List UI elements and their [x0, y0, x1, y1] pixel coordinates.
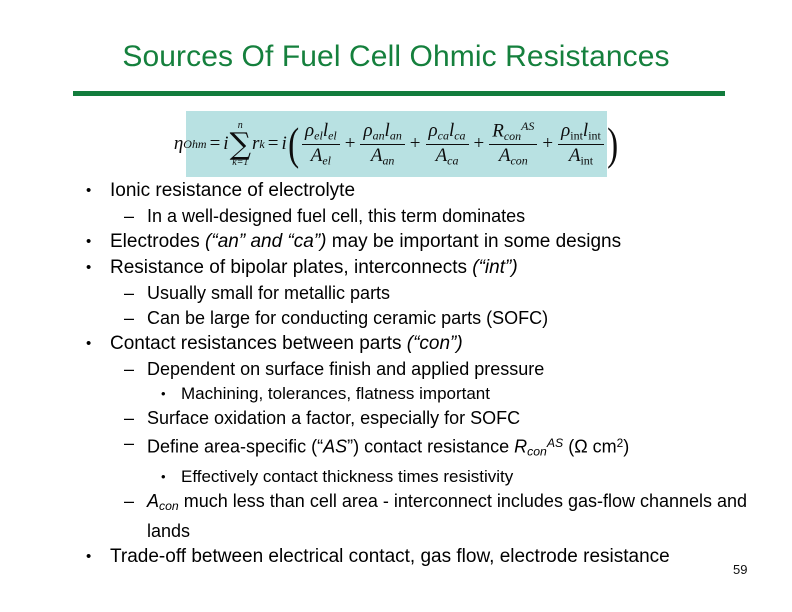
dot-bullet-icon: • — [86, 229, 91, 255]
bullet-item-level-1: •Ionic resistance of electrolyte — [0, 178, 792, 204]
plus-sign-2: + — [410, 133, 421, 155]
dash-bullet-icon: – — [124, 406, 134, 431]
title-underline-rule — [73, 91, 725, 96]
bullet-text: Usually small for metallic parts — [147, 281, 792, 306]
bullet-item-level-2: –Can be large for conducting ceramic par… — [0, 306, 792, 331]
text-segment: Trade-off between electrical contact, ga… — [110, 546, 670, 567]
sigma-glyph: ∑ — [230, 131, 251, 158]
term-anode-denominator: Aan — [368, 145, 398, 167]
dash-bullet-icon: – — [124, 357, 134, 382]
text-segment: (Ω cm — [563, 437, 616, 457]
bullet-list: •Ionic resistance of electrolyte–In a we… — [0, 178, 792, 570]
text-segment: (“int”) — [472, 257, 517, 278]
r-term-symbol: r — [252, 133, 259, 155]
term-contact-denominator: Acon — [496, 145, 531, 167]
plus-sign-1: + — [345, 133, 356, 155]
term-interconnect: ρintlint Aint — [558, 121, 604, 167]
dash-bullet-icon: – — [124, 306, 134, 331]
dot-bullet-icon: • — [86, 255, 91, 281]
eta-symbol: η — [174, 133, 183, 155]
bullet-text: Electrodes (“an” and “ca”) may be import… — [110, 229, 792, 255]
bullet-item-level-2: –Define area-specific (“AS”) contact res… — [0, 431, 792, 465]
term-cathode-numerator: ρcalca — [426, 121, 469, 144]
text-segment: Effectively contact thickness times resi… — [181, 467, 513, 486]
text-segment: Usually small for metallic parts — [147, 283, 390, 303]
bullet-item-level-1: •Electrodes (“an” and “ca”) may be impor… — [0, 229, 792, 255]
bullet-text: Contact resistances between parts (“con”… — [110, 331, 792, 357]
text-segment: AS — [323, 437, 347, 457]
text-segment: Ionic resistance of electrolyte — [110, 180, 355, 201]
text-segment: ) — [623, 437, 629, 457]
bullet-item-level-3: •Effectively contact thickness times res… — [0, 465, 792, 489]
bullet-text: Trade-off between electrical contact, ga… — [110, 544, 792, 570]
bullet-text: Surface oxidation a factor, especially f… — [147, 406, 792, 431]
left-paren: ( — [288, 131, 299, 156]
bullet-item-level-1: •Contact resistances between parts (“con… — [0, 331, 792, 357]
text-segment: much less than cell area - interconnect … — [147, 491, 747, 541]
eta-subscript: Ohm — [183, 137, 206, 152]
text-segment: Can be large for conducting ceramic part… — [147, 308, 548, 328]
bullet-item-level-2: –Acon much less than cell area - interco… — [0, 489, 792, 544]
term-anode: ρanlan Aan — [360, 121, 404, 167]
dot-bullet-icon: • — [86, 178, 91, 204]
page-number: 59 — [733, 562, 747, 577]
text-segment: (“con”) — [407, 333, 463, 354]
bullet-text: Machining, tolerances, flatness importan… — [181, 382, 792, 406]
dot-bullet-icon: • — [161, 465, 166, 489]
plus-sign-4: + — [542, 133, 553, 155]
dot-bullet-icon: • — [161, 382, 166, 406]
dash-bullet-icon: – — [124, 489, 134, 514]
plus-sign-3: + — [474, 133, 485, 155]
bullet-text: Resistance of bipolar plates, interconne… — [110, 255, 792, 281]
term-electrolyte-numerator: ρellel — [302, 121, 340, 144]
bullet-text: In a well-designed fuel cell, this term … — [147, 204, 792, 229]
text-segment: Dependent on surface finish and applied … — [147, 359, 544, 379]
term-cathode-denominator: Aca — [433, 145, 462, 167]
bullet-item-level-2: –In a well-designed fuel cell, this term… — [0, 204, 792, 229]
bullet-item-level-2: –Usually small for metallic parts — [0, 281, 792, 306]
term-interconnect-denominator: Aint — [566, 145, 596, 167]
text-segment: Surface oxidation a factor, especially f… — [147, 408, 520, 428]
right-paren: ) — [607, 131, 618, 156]
text-segment: R — [514, 437, 527, 457]
text-segment: Electrodes — [110, 231, 205, 252]
bullet-item-level-1: •Resistance of bipolar plates, interconn… — [0, 255, 792, 281]
term-electrolyte-denominator: Ael — [308, 145, 334, 167]
text-segment: AS — [547, 436, 563, 450]
term-anode-numerator: ρanlan — [360, 121, 404, 144]
text-segment: Contact resistances between parts — [110, 333, 407, 354]
text-segment: (“an” and “ca”) — [205, 231, 326, 252]
term-cathode: ρcalca Aca — [426, 121, 469, 167]
equation-highlight-box: ηOhm = i n ∑ k=1 rk = i ( ρellel Ael + ρ… — [186, 111, 607, 177]
bullet-item-level-2: –Dependent on surface finish and applied… — [0, 357, 792, 382]
text-segment: A — [147, 491, 159, 511]
dash-bullet-icon: – — [124, 204, 134, 229]
bullet-text: Define area-specific (“AS”) contact resi… — [147, 431, 792, 465]
summation-operator: n ∑ k=1 — [230, 121, 251, 167]
bullet-text: Acon much less than cell area - intercon… — [147, 489, 792, 544]
sum-lower-limit: k=1 — [232, 158, 248, 168]
bullet-item-level-1: •Trade-off between electrical contact, g… — [0, 544, 792, 570]
term-electrolyte: ρellel Ael — [302, 121, 340, 167]
text-segment: In a well-designed fuel cell, this term … — [147, 206, 525, 226]
bullet-item-level-3: •Machining, tolerances, flatness importa… — [0, 382, 792, 406]
dash-bullet-icon: – — [124, 281, 134, 306]
bullet-text: Can be large for conducting ceramic part… — [147, 306, 792, 331]
term-contact: RconAS Acon — [489, 120, 537, 167]
equals-sign-1: = — [210, 133, 221, 155]
page-title: Sources Of Fuel Cell Ohmic Resistances — [0, 40, 792, 74]
text-segment: Resistance of bipolar plates, interconne… — [110, 257, 472, 278]
current-symbol-1: i — [223, 133, 228, 155]
dash-bullet-icon: – — [124, 431, 134, 456]
dot-bullet-icon: • — [86, 331, 91, 357]
text-segment: con — [527, 445, 547, 459]
text-segment: Machining, tolerances, flatness importan… — [181, 384, 490, 403]
text-segment: Define area-specific (“ — [147, 437, 323, 457]
term-contact-numerator: RconAS — [489, 120, 537, 145]
dot-bullet-icon: • — [86, 544, 91, 570]
text-segment: ”) contact resistance — [347, 437, 514, 457]
bullet-text: Ionic resistance of electrolyte — [110, 178, 792, 204]
bullet-text: Effectively contact thickness times resi… — [181, 465, 792, 489]
bullet-item-level-2: –Surface oxidation a factor, especially … — [0, 406, 792, 431]
equals-sign-2: = — [268, 133, 279, 155]
text-segment: con — [159, 499, 179, 513]
current-symbol-2: i — [281, 133, 286, 155]
r-term-subscript: k — [259, 137, 264, 152]
term-interconnect-numerator: ρintlint — [558, 121, 604, 144]
ohmic-resistance-equation: ηOhm = i n ∑ k=1 rk = i ( ρellel Ael + ρ… — [186, 111, 607, 177]
bullet-text: Dependent on surface finish and applied … — [147, 357, 792, 382]
text-segment: may be important in some designs — [326, 231, 621, 252]
